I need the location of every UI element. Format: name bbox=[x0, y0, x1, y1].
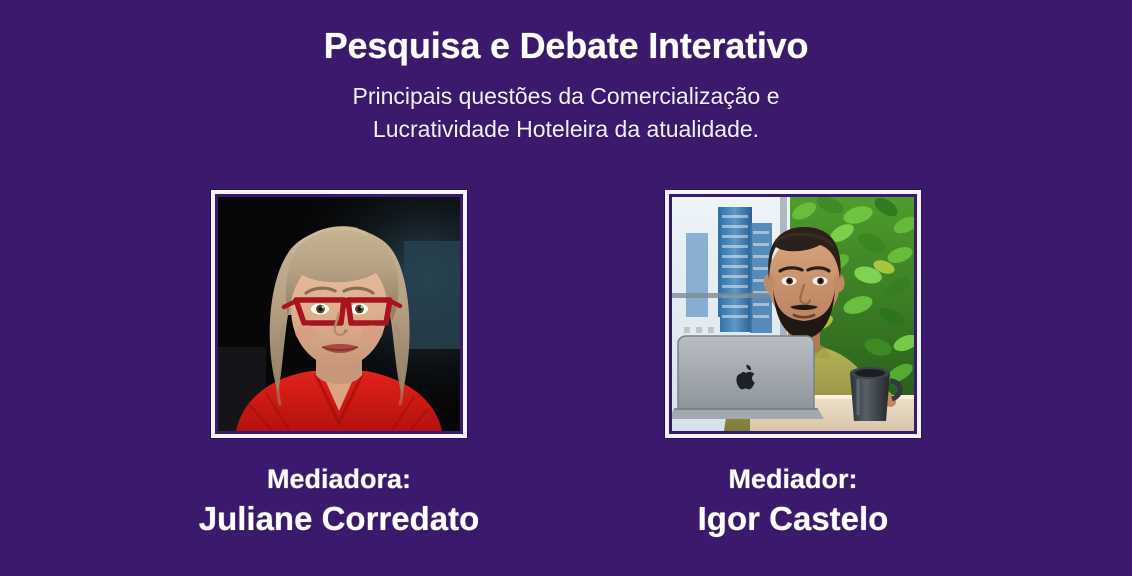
photo-frame-igor bbox=[665, 190, 921, 438]
portrait-illustration-juliane bbox=[218, 197, 460, 431]
slide-header: Pesquisa e Debate Interativo Principais … bbox=[0, 0, 1132, 146]
moderator-name-igor: Igor Castelo bbox=[698, 496, 889, 539]
slide-subtitle-line-2: Lucratividade Hoteleira da atualidade. bbox=[0, 113, 1132, 146]
photo-igor-castelo bbox=[672, 197, 914, 431]
moderators-row: Mediadora: Juliane Corredato bbox=[0, 190, 1132, 538]
slide-subtitle: Principais questões da Comercialização e… bbox=[0, 66, 1132, 145]
photo-frame-juliane bbox=[211, 190, 467, 438]
moderator-role-label-juliane: Mediadora: bbox=[199, 464, 480, 496]
moderator-role-label-igor: Mediador: bbox=[698, 464, 889, 496]
portrait-illustration-igor bbox=[672, 197, 914, 431]
moderator-name-juliane: Juliane Corredato bbox=[199, 496, 480, 539]
moderator-card-igor: Mediador: Igor Castelo bbox=[665, 190, 921, 538]
slide-title: Pesquisa e Debate Interativo bbox=[0, 0, 1132, 66]
moderator-card-juliane: Mediadora: Juliane Corredato bbox=[211, 190, 467, 538]
presentation-slide: Pesquisa e Debate Interativo Principais … bbox=[0, 0, 1132, 576]
slide-subtitle-line-1: Principais questões da Comercialização e bbox=[0, 80, 1132, 113]
moderator-caption-juliane: Mediadora: Juliane Corredato bbox=[199, 464, 480, 538]
moderator-caption-igor: Mediador: Igor Castelo bbox=[698, 464, 889, 538]
photo-juliane-corredato bbox=[218, 197, 460, 431]
